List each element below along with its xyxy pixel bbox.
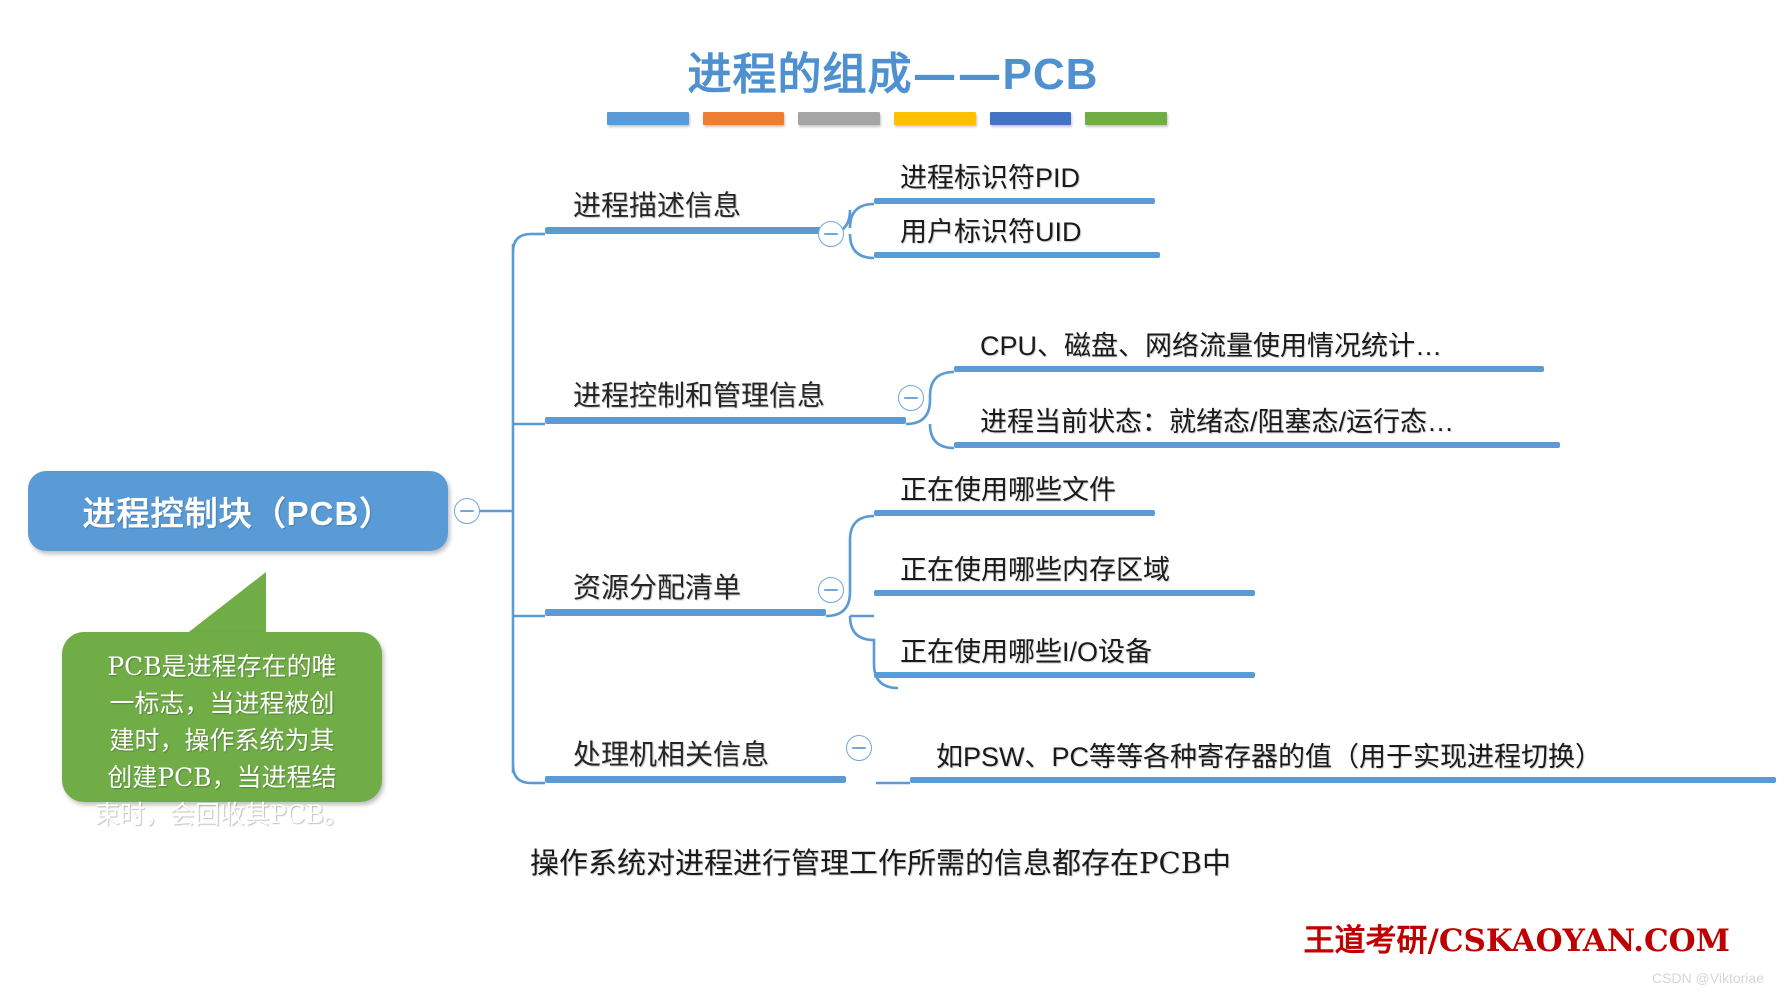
root-node-label: 进程控制块（PCB） bbox=[83, 487, 394, 535]
slide-canvas: 进程的组成——PCB bbox=[0, 0, 1786, 996]
callout-line-5: 束时，会回收其PCB。 bbox=[62, 796, 382, 833]
branch-label-3: 资源分配清单 bbox=[573, 566, 741, 606]
leaf-label-3-3: 正在使用哪些I/O设备 bbox=[900, 630, 1152, 669]
branch-underline-2 bbox=[545, 417, 906, 424]
leaf-label-3-2: 正在使用哪些内存区域 bbox=[900, 548, 1170, 587]
collapse-toggle-branch-4[interactable] bbox=[846, 735, 872, 761]
branch-underline-1 bbox=[545, 227, 826, 234]
leaf-node-4-1[interactable]: 如PSW、PC等等各种寄存器的值（用于实现进程切换） bbox=[910, 739, 1776, 783]
branch-label-1: 进程描述信息 bbox=[573, 184, 741, 224]
callout-text: PCB是进程存在的唯 一标志，当进程被创 建时，操作系统为其 创建PCB，当进程… bbox=[62, 648, 382, 833]
branch-underline-4 bbox=[545, 776, 846, 783]
branch-underline-3 bbox=[545, 609, 826, 616]
collapse-toggle-branch-1[interactable] bbox=[818, 221, 844, 247]
callout-pcb-note[interactable]: PCB是进程存在的唯 一标志，当进程被创 建时，操作系统为其 创建PCB，当进程… bbox=[62, 570, 382, 802]
leaf-node-3-1[interactable]: 正在使用哪些文件 bbox=[874, 472, 1155, 516]
collapse-toggle-branch-2[interactable] bbox=[898, 385, 924, 411]
leaf-node-1-1[interactable]: 进程标识符PID bbox=[874, 160, 1155, 204]
leaf-label-4-1: 如PSW、PC等等各种寄存器的值（用于实现进程切换） bbox=[936, 735, 1602, 774]
summary-caption: 操作系统对进程进行管理工作所需的信息都存在PCB中 bbox=[530, 840, 1231, 882]
callout-line-3: 建时，操作系统为其 bbox=[62, 722, 382, 759]
root-node-pcb[interactable]: 进程控制块（PCB） bbox=[28, 471, 448, 551]
leaf-underline-2-2 bbox=[954, 442, 1560, 448]
brand-label: 王道考研/CSKAOYAN.COM bbox=[1304, 915, 1730, 960]
branch-label-2: 进程控制和管理信息 bbox=[573, 374, 825, 414]
leaf-underline-1-2 bbox=[874, 252, 1160, 258]
branch-node-3[interactable]: 资源分配清单 bbox=[545, 572, 826, 616]
leaf-underline-1-1 bbox=[874, 198, 1155, 204]
leaf-underline-3-1 bbox=[874, 510, 1155, 516]
leaf-node-2-2[interactable]: 进程当前状态：就绪态/阻塞态/运行态… bbox=[954, 404, 1560, 448]
leaf-node-3-3[interactable]: 正在使用哪些I/O设备 bbox=[874, 634, 1255, 678]
leaf-underline-3-2 bbox=[874, 590, 1255, 596]
watermark-label: CSDN @Viktoriae bbox=[1652, 970, 1764, 986]
leaf-underline-2-1 bbox=[954, 366, 1544, 372]
branch-node-2[interactable]: 进程控制和管理信息 bbox=[545, 380, 906, 424]
leaf-underline-3-3 bbox=[874, 672, 1255, 678]
leaf-node-3-2[interactable]: 正在使用哪些内存区域 bbox=[874, 552, 1255, 596]
leaf-label-3-1: 正在使用哪些文件 bbox=[900, 468, 1116, 507]
leaf-node-2-1[interactable]: CPU、磁盘、网络流量使用情况统计… bbox=[954, 328, 1544, 372]
leaf-label-2-1: CPU、磁盘、网络流量使用情况统计… bbox=[980, 324, 1442, 363]
leaf-label-1-1: 进程标识符PID bbox=[900, 156, 1080, 195]
collapse-toggle-branch-3[interactable] bbox=[818, 577, 844, 603]
branch-node-1[interactable]: 进程描述信息 bbox=[545, 190, 826, 234]
callout-line-4: 创建PCB，当进程结 bbox=[62, 759, 382, 796]
leaf-label-2-2: 进程当前状态：就绪态/阻塞态/运行态… bbox=[980, 400, 1454, 439]
leaf-underline-4-1 bbox=[910, 777, 1776, 783]
branch-node-4[interactable]: 处理机相关信息 bbox=[545, 739, 846, 783]
branch-label-4: 处理机相关信息 bbox=[573, 733, 769, 773]
leaf-node-1-2[interactable]: 用户标识符UID bbox=[874, 214, 1160, 258]
callout-line-1: PCB是进程存在的唯 bbox=[62, 648, 382, 685]
callout-line-2: 一标志，当进程被创 bbox=[62, 685, 382, 722]
leaf-label-1-2: 用户标识符UID bbox=[900, 210, 1082, 249]
collapse-toggle-root[interactable] bbox=[454, 498, 480, 524]
